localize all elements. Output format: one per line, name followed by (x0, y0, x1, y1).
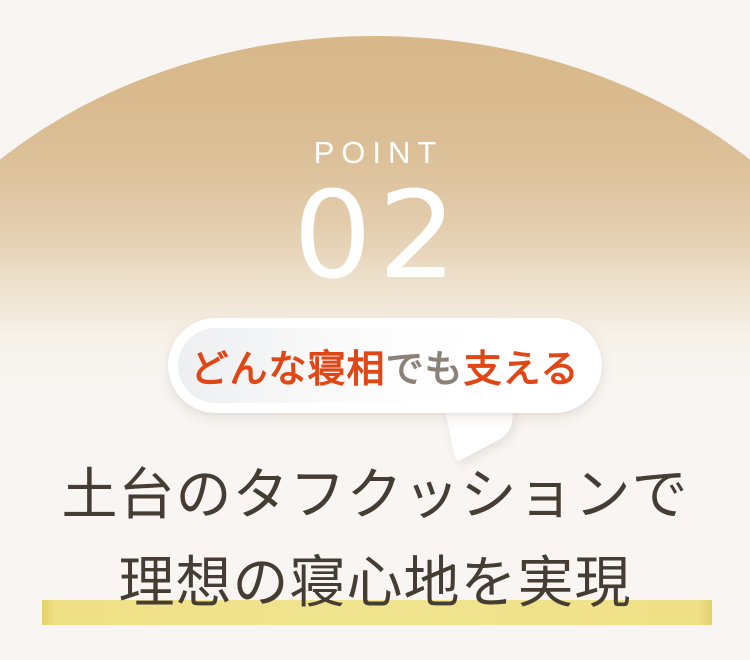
point-number: 02 (0, 176, 750, 296)
bubble-segment-1: どんな寝相 (191, 338, 386, 393)
speech-bubble: どんな寝相でも支える (168, 318, 602, 448)
point-label: POINT (0, 137, 750, 168)
bubble-segment-2: でも (386, 338, 464, 393)
speech-bubble-text: どんな寝相でも支える (168, 318, 602, 413)
heading-line-1: 土台のタフクッションで (0, 452, 750, 540)
bubble-segment-3: 支える (464, 338, 580, 393)
heading-line-2-text: 理想の寝心地を実現 (119, 551, 632, 616)
heading-line-1-text: 土台のタフクッションで (62, 463, 689, 528)
promo-panel: POINT 02 どんな寝相でも支える 土台のタフクッションで 理想の寝心地を実… (0, 0, 750, 660)
